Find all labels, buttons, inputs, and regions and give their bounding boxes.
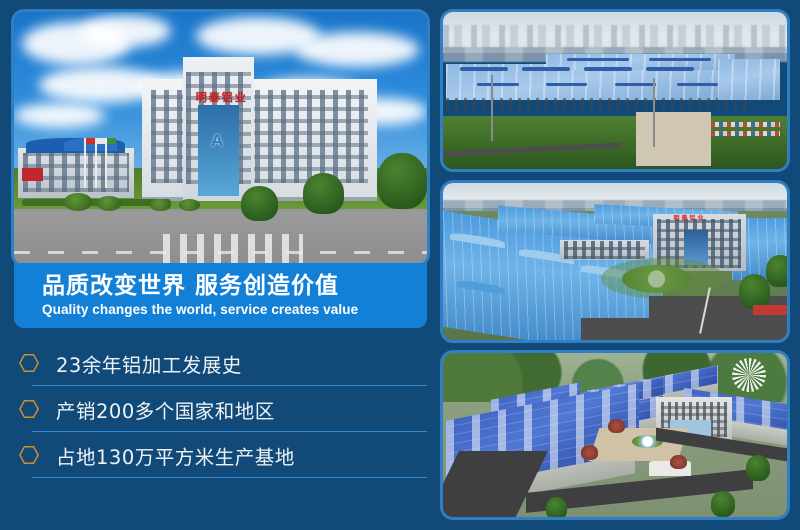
flagpole (105, 138, 107, 188)
roof-ridge (477, 83, 518, 87)
tagline-english: Quality changes the world, service creat… (42, 302, 427, 317)
tree (766, 255, 787, 286)
ornamental-tree (581, 445, 598, 460)
feature-list: 23余年铝加工发展史 产销200多个国家和地区 占地130万平方米生产基地 (14, 340, 427, 478)
building-sign: 明泰铝业 (673, 213, 705, 222)
gatehouse-canopy (753, 305, 787, 314)
site-road (581, 318, 698, 340)
tree (711, 491, 735, 517)
warehouse-roof (718, 59, 780, 100)
ornamental-tree (670, 455, 687, 470)
roof-ridge (567, 58, 629, 61)
roof-ridge (522, 67, 570, 71)
roof-ridge (646, 67, 694, 71)
flag (107, 138, 116, 144)
tagline-chinese: 品质改变世界 服务创造价值 (42, 274, 427, 299)
hexagon-icon (18, 398, 40, 420)
shrub (150, 199, 171, 212)
aerial-factory-complex-photo (443, 12, 787, 169)
parked-vehicles (711, 122, 780, 127)
road-centerline (14, 251, 427, 254)
hero-photo-canvas: A 明泰铝业 (14, 12, 427, 264)
tree (739, 274, 770, 309)
tree (303, 173, 344, 213)
low-office-block (560, 240, 649, 260)
industrial-park-photo: 明泰铝业 (443, 183, 787, 340)
red-signboard (22, 168, 43, 181)
window-grid (564, 241, 645, 259)
shrub (179, 199, 200, 212)
factory-roof (546, 54, 735, 70)
aerial-photo-canvas (443, 12, 787, 169)
roof-sign-text: 明泰铝业 (196, 89, 248, 105)
flagpole (95, 138, 97, 188)
roof-ridge (546, 83, 587, 87)
cloud (80, 15, 171, 48)
roof-ridge (615, 83, 656, 87)
roof-ridge (649, 58, 711, 61)
roof-ridge (460, 67, 508, 71)
roof-panel-lines (546, 54, 735, 70)
ornamental-tree (608, 419, 625, 434)
company-headquarters-photo: A 明泰铝业 (14, 12, 427, 264)
tree (746, 455, 770, 481)
list-item: 23余年铝加工发展史 (14, 340, 427, 386)
glass-atrium (198, 105, 239, 196)
tree (377, 153, 427, 208)
tree (241, 186, 278, 221)
parked-vehicles (711, 131, 780, 136)
row-divider (32, 477, 427, 478)
industrial-park-rendering (443, 353, 787, 517)
power-pylon (491, 75, 493, 141)
promo-page: A 明泰铝业 (0, 0, 800, 530)
courtyard-lawn (601, 258, 725, 299)
crosswalk-markings (163, 234, 303, 264)
headquarters-building (142, 79, 377, 201)
feature-label: 产销200多个国家和地区 (56, 395, 275, 424)
list-item: 产销200多个国家和地区 (14, 386, 427, 432)
yard-paving (636, 112, 712, 165)
industrial-park-canvas: 明泰铝业 (443, 183, 787, 340)
roof-panel-lines (718, 59, 780, 100)
list-item: 占地130万平方米生产基地 (14, 432, 427, 478)
feature-label: 23余年铝加工发展史 (56, 349, 242, 378)
power-pylon (653, 78, 655, 147)
company-logo-a: A (211, 131, 223, 151)
tagline-banner: 品质改变世界 服务创造价值 Quality changes the world,… (14, 263, 427, 328)
roof-ridge (584, 67, 632, 71)
rendering-canvas (443, 353, 787, 517)
hexagon-icon (18, 352, 40, 374)
flagpole (84, 138, 86, 188)
hexagon-icon (18, 444, 40, 466)
cloud (14, 103, 105, 128)
roof-ridge (677, 83, 718, 87)
feature-label: 占地130万平方米生产基地 (56, 441, 295, 470)
tree (546, 497, 567, 517)
